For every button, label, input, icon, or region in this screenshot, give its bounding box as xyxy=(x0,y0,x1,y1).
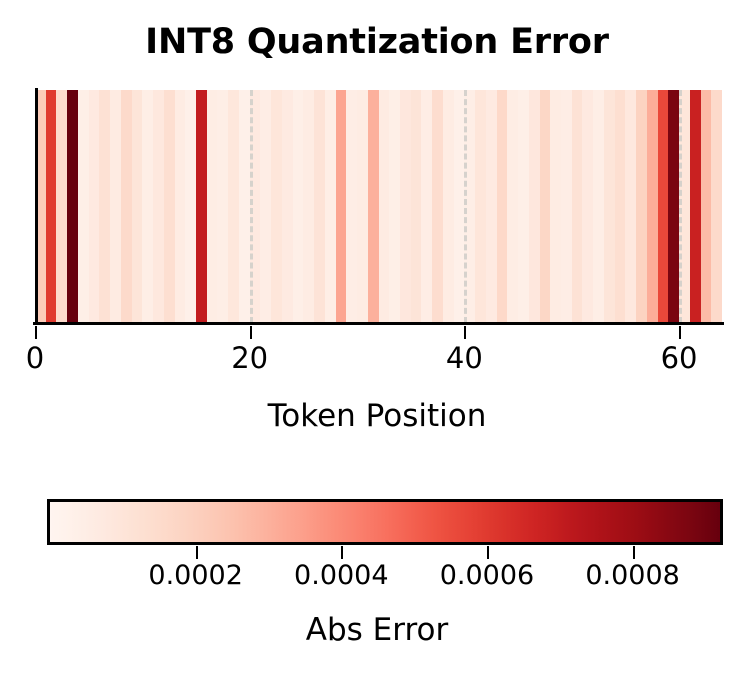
heatmap-cell xyxy=(250,90,261,323)
colorbar-tick xyxy=(487,546,489,559)
heatmap-cell xyxy=(464,90,475,323)
x-tick-label: 40 xyxy=(446,341,483,375)
heatmap-cell xyxy=(196,90,207,323)
heatmap-cell xyxy=(540,90,551,323)
heatmap-cell xyxy=(110,90,121,323)
heatmap-cell xyxy=(421,90,432,323)
heatmap-cell xyxy=(529,90,540,323)
heatmap-cell xyxy=(314,90,325,323)
x-tick xyxy=(35,326,37,339)
heatmap-plot-area xyxy=(35,90,722,323)
heatmap-cell xyxy=(260,90,271,323)
heatmap-cell xyxy=(325,90,336,323)
x-tick-label: 60 xyxy=(661,341,698,375)
heatmap-cell xyxy=(99,90,110,323)
heatmap-cell xyxy=(647,90,658,323)
colorbar-tick xyxy=(196,546,198,559)
heatmap-cell xyxy=(615,90,626,323)
heatmap-cell xyxy=(486,90,497,323)
colorbar xyxy=(47,499,723,545)
heatmap-cell xyxy=(207,90,218,323)
heatmap-cell xyxy=(668,90,679,323)
heatmap-cells xyxy=(35,90,722,323)
heatmap-cell xyxy=(432,90,443,323)
heatmap-cell xyxy=(282,90,293,323)
x-tick-label: 20 xyxy=(231,341,268,375)
heatmap-cell xyxy=(711,90,722,323)
heatmap-cell xyxy=(132,90,143,323)
heatmap-cell xyxy=(293,90,304,323)
heatmap-cell xyxy=(604,90,615,323)
heatmap-cell xyxy=(142,90,153,323)
heatmap-cell xyxy=(690,90,701,323)
heatmap-cell xyxy=(379,90,390,323)
colorbar-tick xyxy=(633,546,635,559)
colorbar-gradient xyxy=(50,502,720,542)
heatmap-cell xyxy=(550,90,561,323)
colorbar-tick xyxy=(341,546,343,559)
heatmap-cell xyxy=(303,90,314,323)
colorbar-tick-label: 0.0008 xyxy=(585,560,679,591)
colorbar-tick-label: 0.0002 xyxy=(148,560,242,591)
y-axis-spine xyxy=(35,88,38,325)
heatmap-cell xyxy=(507,90,518,323)
heatmap-cell xyxy=(679,90,690,323)
x-axis-label: Token Position xyxy=(0,398,754,434)
heatmap-cell xyxy=(357,90,368,323)
heatmap-cell xyxy=(389,90,400,323)
heatmap-cell xyxy=(46,90,57,323)
heatmap-cell xyxy=(454,90,465,323)
heatmap-cell xyxy=(368,90,379,323)
colorbar-tick-label: 0.0006 xyxy=(440,560,534,591)
heatmap-cell xyxy=(164,90,175,323)
heatmap-cell xyxy=(658,90,669,323)
heatmap-cell xyxy=(346,90,357,323)
x-tick xyxy=(464,326,466,339)
heatmap-cell xyxy=(67,90,78,323)
heatmap-cell xyxy=(443,90,454,323)
heatmap-cell xyxy=(593,90,604,323)
heatmap-cell xyxy=(475,90,486,323)
x-tick-label: 0 xyxy=(26,341,44,375)
x-tick xyxy=(250,326,252,339)
colorbar-tick-label: 0.0004 xyxy=(294,560,388,591)
heatmap-cell xyxy=(701,90,712,323)
heatmap-cell xyxy=(228,90,239,323)
heatmap-cell xyxy=(239,90,250,323)
heatmap-cell xyxy=(175,90,186,323)
heatmap-cell xyxy=(561,90,572,323)
heatmap-cell xyxy=(636,90,647,323)
x-axis-spine xyxy=(33,322,724,325)
heatmap-cell xyxy=(518,90,529,323)
heatmap-cell xyxy=(572,90,583,323)
heatmap-cell xyxy=(497,90,508,323)
heatmap-cell xyxy=(89,90,100,323)
heatmap-cell xyxy=(336,90,347,323)
x-tick xyxy=(679,326,681,339)
heatmap-cell xyxy=(153,90,164,323)
heatmap-cell xyxy=(271,90,282,323)
heatmap-cell xyxy=(411,90,422,323)
chart-figure: INT8 Quantization Error 0204060 Token Po… xyxy=(0,0,754,690)
heatmap-cell xyxy=(56,90,67,323)
heatmap-cell xyxy=(217,90,228,323)
heatmap-cell xyxy=(625,90,636,323)
heatmap-cell xyxy=(78,90,89,323)
page-title: INT8 Quantization Error xyxy=(0,22,754,62)
heatmap-cell xyxy=(121,90,132,323)
colorbar-label: Abs Error xyxy=(0,612,754,648)
heatmap-cell xyxy=(400,90,411,323)
heatmap-cell xyxy=(582,90,593,323)
heatmap-cell xyxy=(185,90,196,323)
